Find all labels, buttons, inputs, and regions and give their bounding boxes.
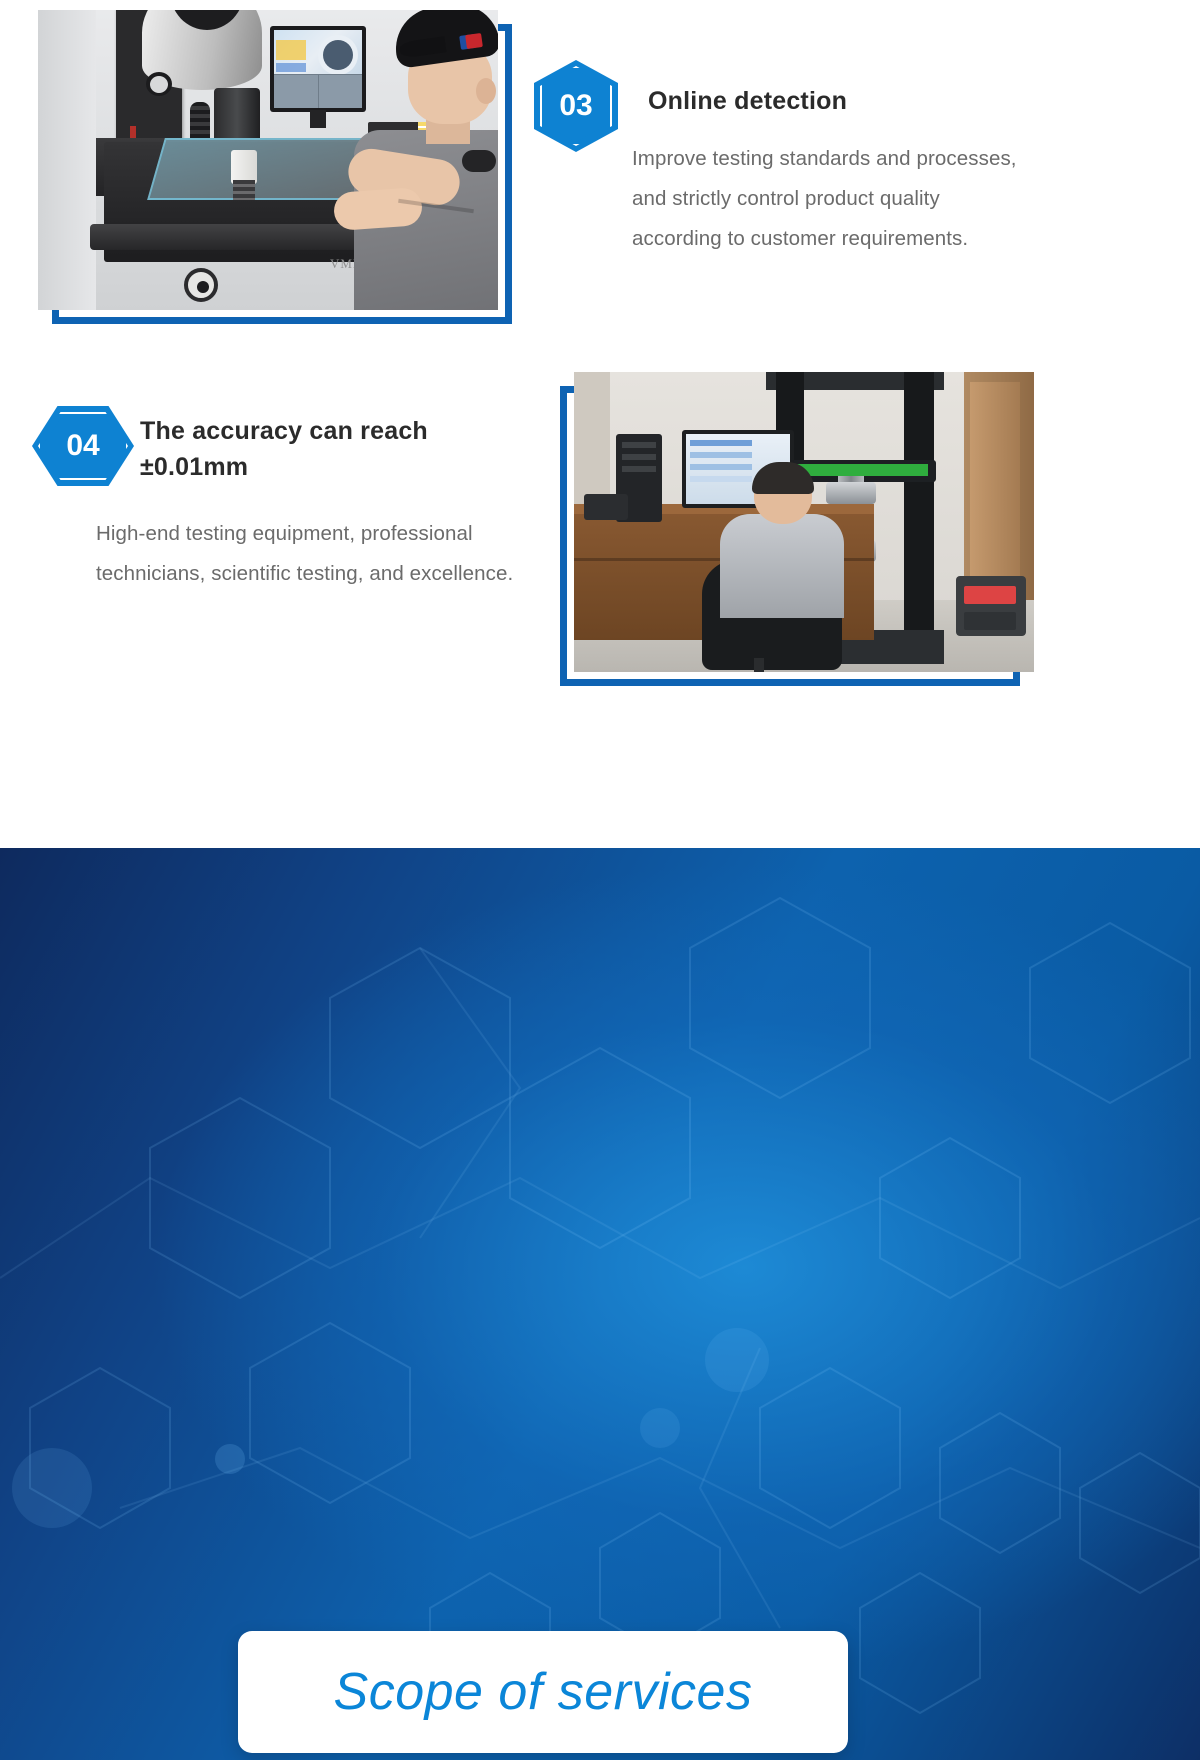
- decor-bubble: [215, 1444, 245, 1474]
- decor-bubble: [705, 1328, 769, 1392]
- feature-body-03: Improve testing standards and processes,…: [632, 139, 1032, 259]
- feature-title-04: The accuracy can reach ±0.01mm: [140, 413, 500, 486]
- decor-bubble: [12, 1448, 92, 1528]
- photo-image-vml300: VML300: [38, 10, 498, 310]
- hexagon-pattern-icon: [0, 848, 1200, 1760]
- photo-testing-equipment: [560, 386, 1020, 686]
- features-section: VML300 03 Online detection Im: [0, 0, 1200, 848]
- decor-bubble: [640, 1408, 680, 1448]
- feature-body-04: High-end testing equipment, professional…: [96, 514, 536, 594]
- photo-image-tensile-lab: [574, 372, 1034, 672]
- feature-title-03: Online detection: [648, 83, 1068, 119]
- scope-of-services-section: Scope of services 01 CNC processing of e…: [0, 848, 1200, 1760]
- feature-badge-04: 04: [32, 406, 134, 486]
- feature-number: 04: [66, 429, 99, 463]
- photo-online-detection: VML300: [52, 24, 512, 324]
- feature-number: 03: [559, 89, 592, 123]
- scope-banner-card: Scope of services: [238, 1631, 848, 1753]
- feature-badge-03: 03: [534, 60, 618, 152]
- scope-banner-title: Scope of services: [334, 1662, 753, 1722]
